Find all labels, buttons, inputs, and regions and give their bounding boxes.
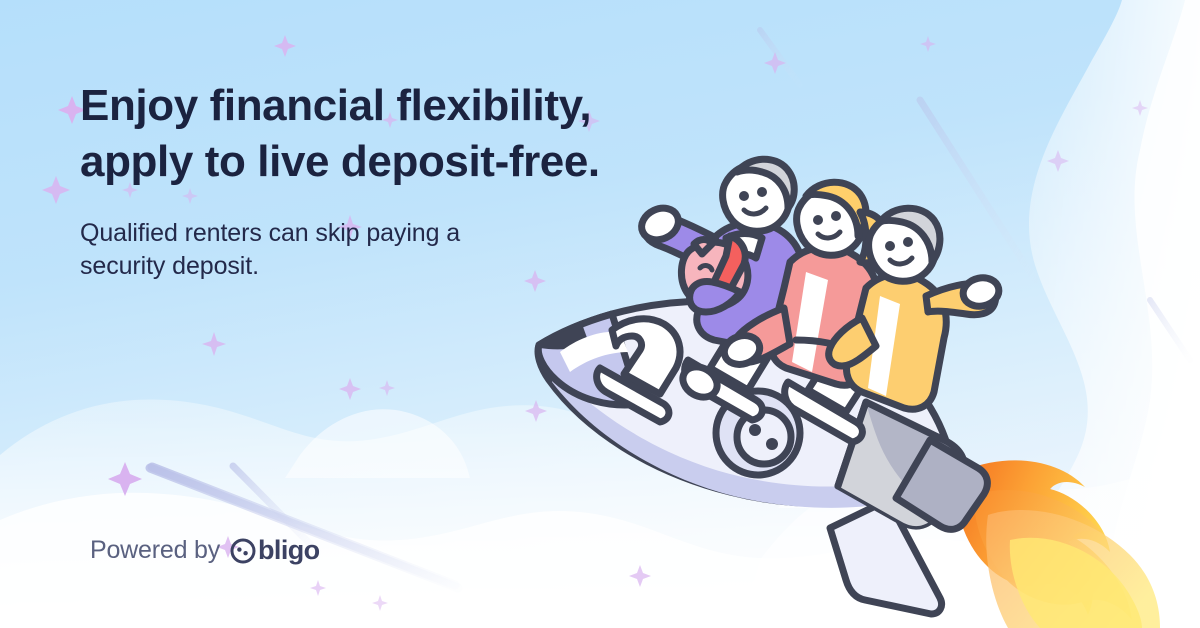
promo-banner: Enjoy financial flexibility, apply to li… (0, 0, 1200, 628)
text-block: Enjoy financial flexibility, apply to li… (80, 78, 680, 284)
obligo-logo: bligo (229, 535, 319, 566)
obligo-wordmark: bligo (258, 535, 319, 566)
powered-by-obligo: Powered by bligo (90, 535, 320, 566)
headline: Enjoy financial flexibility, apply to li… (80, 78, 680, 191)
powered-by-label: Powered by (90, 536, 220, 565)
obligo-o-mark-icon (229, 537, 257, 565)
subheadline: Qualified renters can skip paying a secu… (80, 191, 680, 284)
